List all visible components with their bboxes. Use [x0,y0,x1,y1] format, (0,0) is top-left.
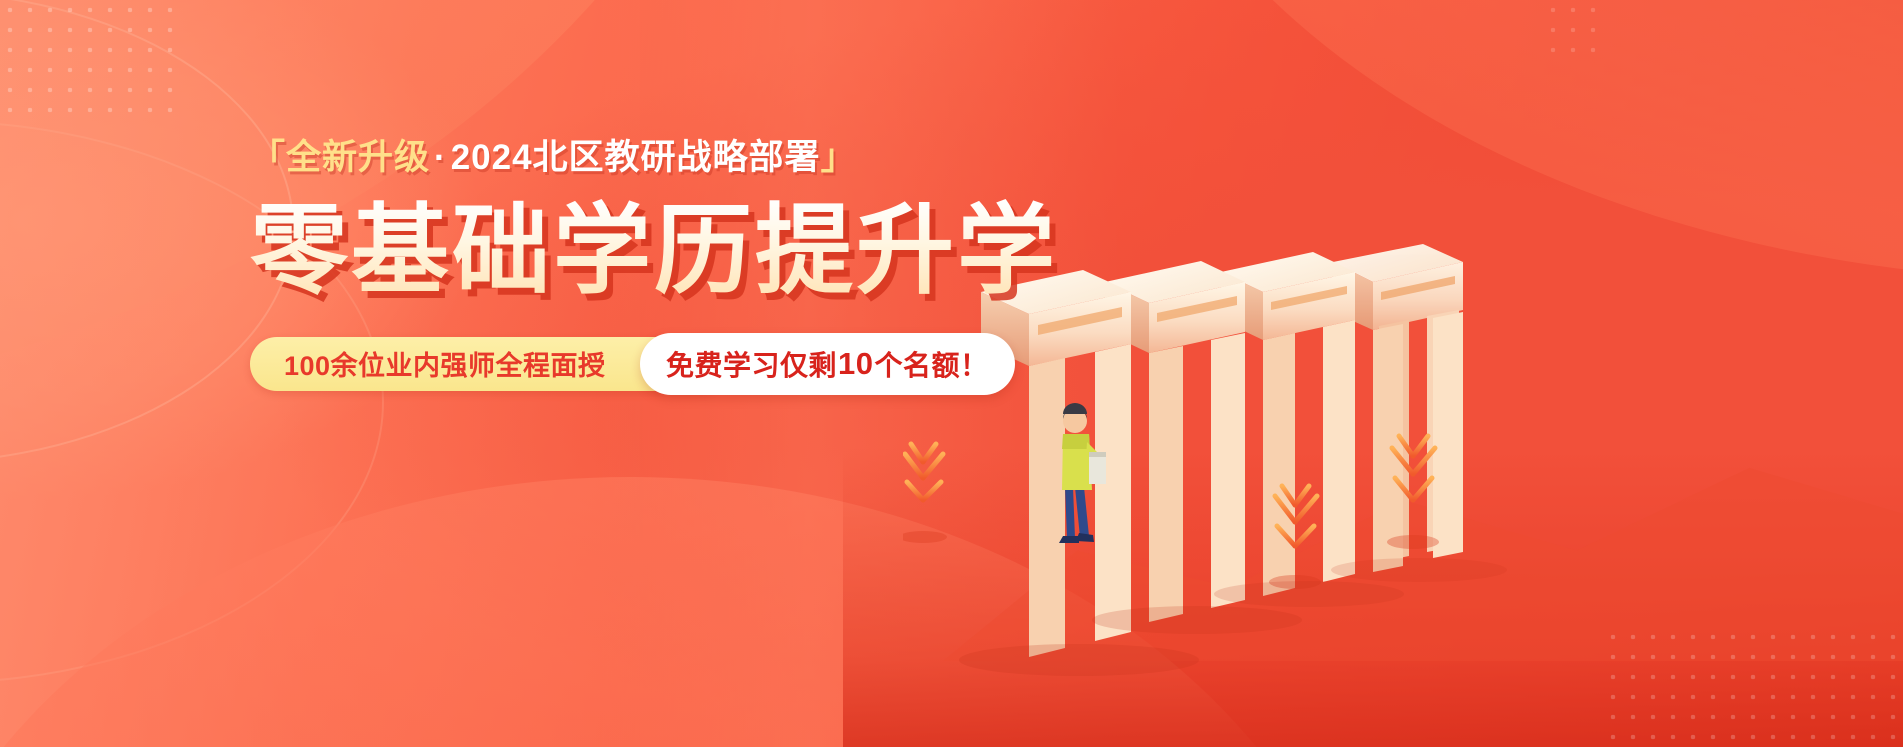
subtitle-main: 2024北区教研战略部署 [451,138,821,177]
banner-title: 零基础学历提升学霸班 [250,199,1060,303]
subtitle-separator: · [430,138,451,177]
dot-pattern-top-left [0,0,176,120]
pill-teachers-label: 100余位业内强师全程面授 [284,344,606,383]
bracket-open-icon: 「 [250,138,286,177]
bracket-close-icon: 」 [821,138,857,177]
banner-subtitle: 「全新升级·2024北区教研战略部署」 [250,140,1060,175]
subtitle-highlight: 全新升级 [286,138,430,177]
banner-pill-row: 100余位业内强师全程面授 免费学习仅剩10个名额！ [250,337,950,391]
pill-free-seats-count: 10 [837,346,874,382]
pill-free-seats-suffix: 个名额！ [875,344,989,384]
banner-text-block: 「全新升级·2024北区教研战略部署」 零基础学历提升学霸班 100余位业内强师… [250,140,1060,391]
promo-banner: 「全新升级·2024北区教研战略部署」 零基础学历提升学霸班 100余位业内强师… [0,0,1903,747]
pill-free-seats-badge[interactable]: 免费学习仅剩10个名额！ [640,333,1015,395]
pill-free-seats-prefix: 免费学习仅剩 [666,344,837,384]
